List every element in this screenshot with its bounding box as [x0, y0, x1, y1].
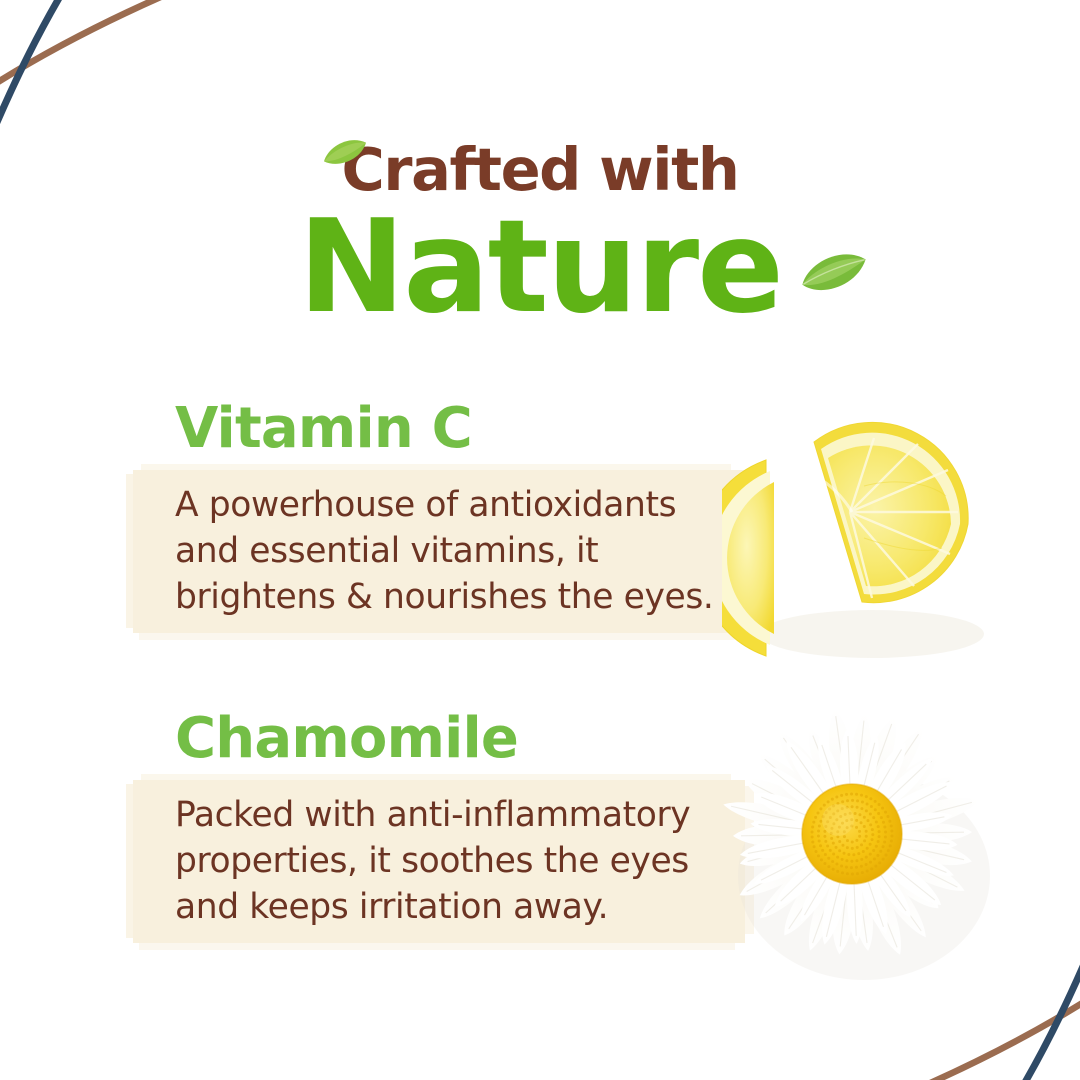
band-fringe	[139, 941, 735, 950]
page-title-line-2: Nature	[0, 203, 1080, 334]
ingredient-title: Vitamin C	[175, 398, 472, 460]
lemon-slice-back	[814, 422, 968, 602]
ingredient-block: Vitamin C A powerhouse of antioxidants a…	[0, 398, 1080, 698]
ingredient-description: Packed with anti-inflammatory properties…	[175, 792, 735, 931]
crafted-with-nature-poster: Crafted with Nature Vitamin C A powerhou…	[0, 0, 1080, 1080]
page-title: Crafted with Nature	[0, 140, 1080, 334]
ingredient-description: A powerhouse of antioxidants and essenti…	[175, 482, 735, 621]
page-title-line-1: Crafted with	[0, 140, 1080, 199]
flower-petals-inner	[738, 728, 958, 947]
band-fringe	[141, 464, 731, 472]
flower-petals-outer	[721, 707, 982, 959]
band-fringe	[141, 774, 731, 782]
ingredient-title: Chamomile	[175, 708, 518, 770]
ingredient-block: Chamomile Packed with anti-inflammatory …	[0, 708, 1080, 1008]
lemon-slices-image	[722, 408, 1002, 676]
flower-center-disc	[802, 784, 902, 884]
band-fringe	[139, 631, 735, 640]
